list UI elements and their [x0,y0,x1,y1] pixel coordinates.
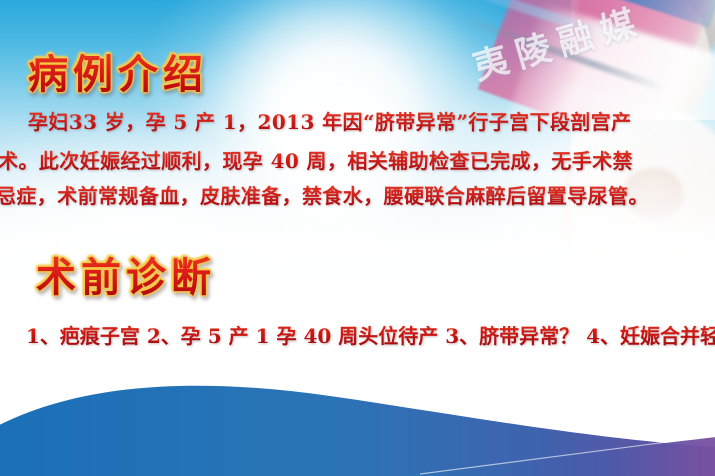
bottom-ribbon-group [0,346,715,476]
section-title-preop-diagnosis: 术前诊断 [36,245,216,303]
case-intro-line-2: 术。此次妊娠经过顺利，现孕 40 周，相关辅助检查已完成，无手术禁 [0,145,633,174]
bottom-swoosh-svg [0,346,715,476]
case-intro-line-3: 忌症，术前常规备血，皮肤准备，禁食水，腰硬联合麻醉后留置导尿管。 [0,180,649,209]
section-title-case-intro: 病例介绍 [28,42,208,100]
preop-diagnosis-line-1: 1、疤痕子宫 2、孕 5 产 1 孕 40 周头位待产 3、脐带异常？ 4、妊娠… [26,320,715,349]
case-intro-line-1: 孕妇33 岁，孕 5 产 1，2013 年因“脐带异常”行子宫下段剖宫产 [28,106,632,135]
presentation-slide: 夷陵融媒 病例介绍 孕妇33 岁，孕 5 产 1，2013 年因“脐带异常”行子… [0,0,715,476]
